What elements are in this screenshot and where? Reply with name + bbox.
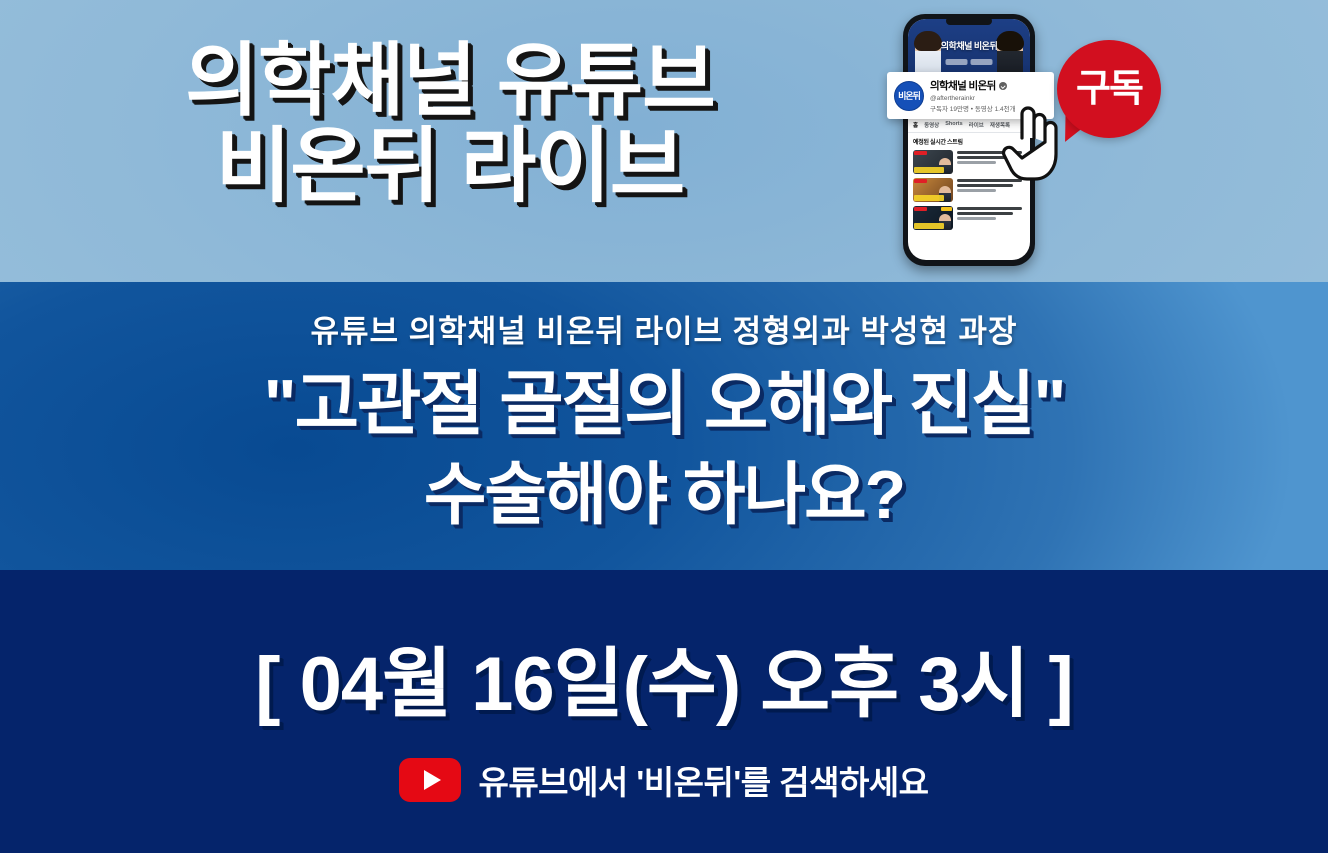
banner-title-text: 의학채널 비온뒤 (941, 39, 997, 52)
tab-home[interactable]: 홈 (913, 121, 918, 129)
headline-block: "고관절 골절의 오해와 진실" 수술해야 하나요? (0, 369, 1328, 529)
video-thumbnail (913, 150, 953, 174)
verified-check-icon (999, 82, 1007, 90)
header-band: 의학채널 유튜브 비온뒤 라이브 의학채널 비온뒤 (0, 0, 1328, 282)
title-line-2: 비온뒤 라이브 (0, 127, 900, 207)
video-info (957, 206, 1025, 230)
video-thumbnail (913, 178, 953, 202)
promo-poster: 의학채널 유튜브 비온뒤 라이브 의학채널 비온뒤 (0, 0, 1328, 853)
channel-avatar: 비온뒤 (894, 81, 924, 111)
subscribe-bubble-label: 구독 (1076, 70, 1142, 108)
tab-live[interactable]: 라이브 (969, 121, 984, 129)
program-subtitle: 유튜브 의학채널 비온뒤 라이브 정형외과 박성현 과장 (0, 306, 1328, 351)
banner-subtext-bars (946, 59, 993, 65)
cta-text: 유튜브에서 '비온뒤'를 검색하세요 (478, 756, 928, 804)
footer-band: [ 04월 16일(수) 오후 3시 ] 유튜브에서 '비온뒤'를 검색하세요 (0, 570, 1328, 853)
subscribe-speech-bubble: 구독 (1057, 40, 1161, 138)
main-band: 유튜브 의학채널 비온뒤 라이브 정형외과 박성현 과장 "고관절 골절의 오해… (0, 282, 1328, 570)
headline-line-2: 수술해야 하나요? (0, 461, 1328, 529)
channel-name: 의학채널 비온뒤 (930, 78, 996, 93)
tab-videos[interactable]: 동영상 (924, 121, 939, 129)
video-list-item[interactable] (908, 204, 1030, 232)
youtube-play-icon[interactable] (399, 758, 461, 802)
cta-row[interactable]: 유튜브에서 '비온뒤'를 검색하세요 (0, 756, 1328, 804)
phone-notch (946, 17, 992, 25)
headline-line-1: "고관절 골절의 오해와 진실" (0, 369, 1328, 439)
title-line-1: 의학채널 유튜브 (0, 42, 900, 120)
tab-shorts[interactable]: Shorts (945, 121, 962, 129)
pointing-hand-icon (999, 104, 1063, 182)
video-thumbnail (913, 206, 953, 230)
channel-name-row: 의학채널 비온뒤 (930, 78, 1047, 93)
broadcast-date: [ 04월 16일(수) 오후 3시 ] (0, 622, 1328, 732)
poster-title: 의학채널 유튜브 비온뒤 라이브 (0, 42, 900, 208)
channel-handle: @aftertherainkr (930, 95, 1047, 102)
